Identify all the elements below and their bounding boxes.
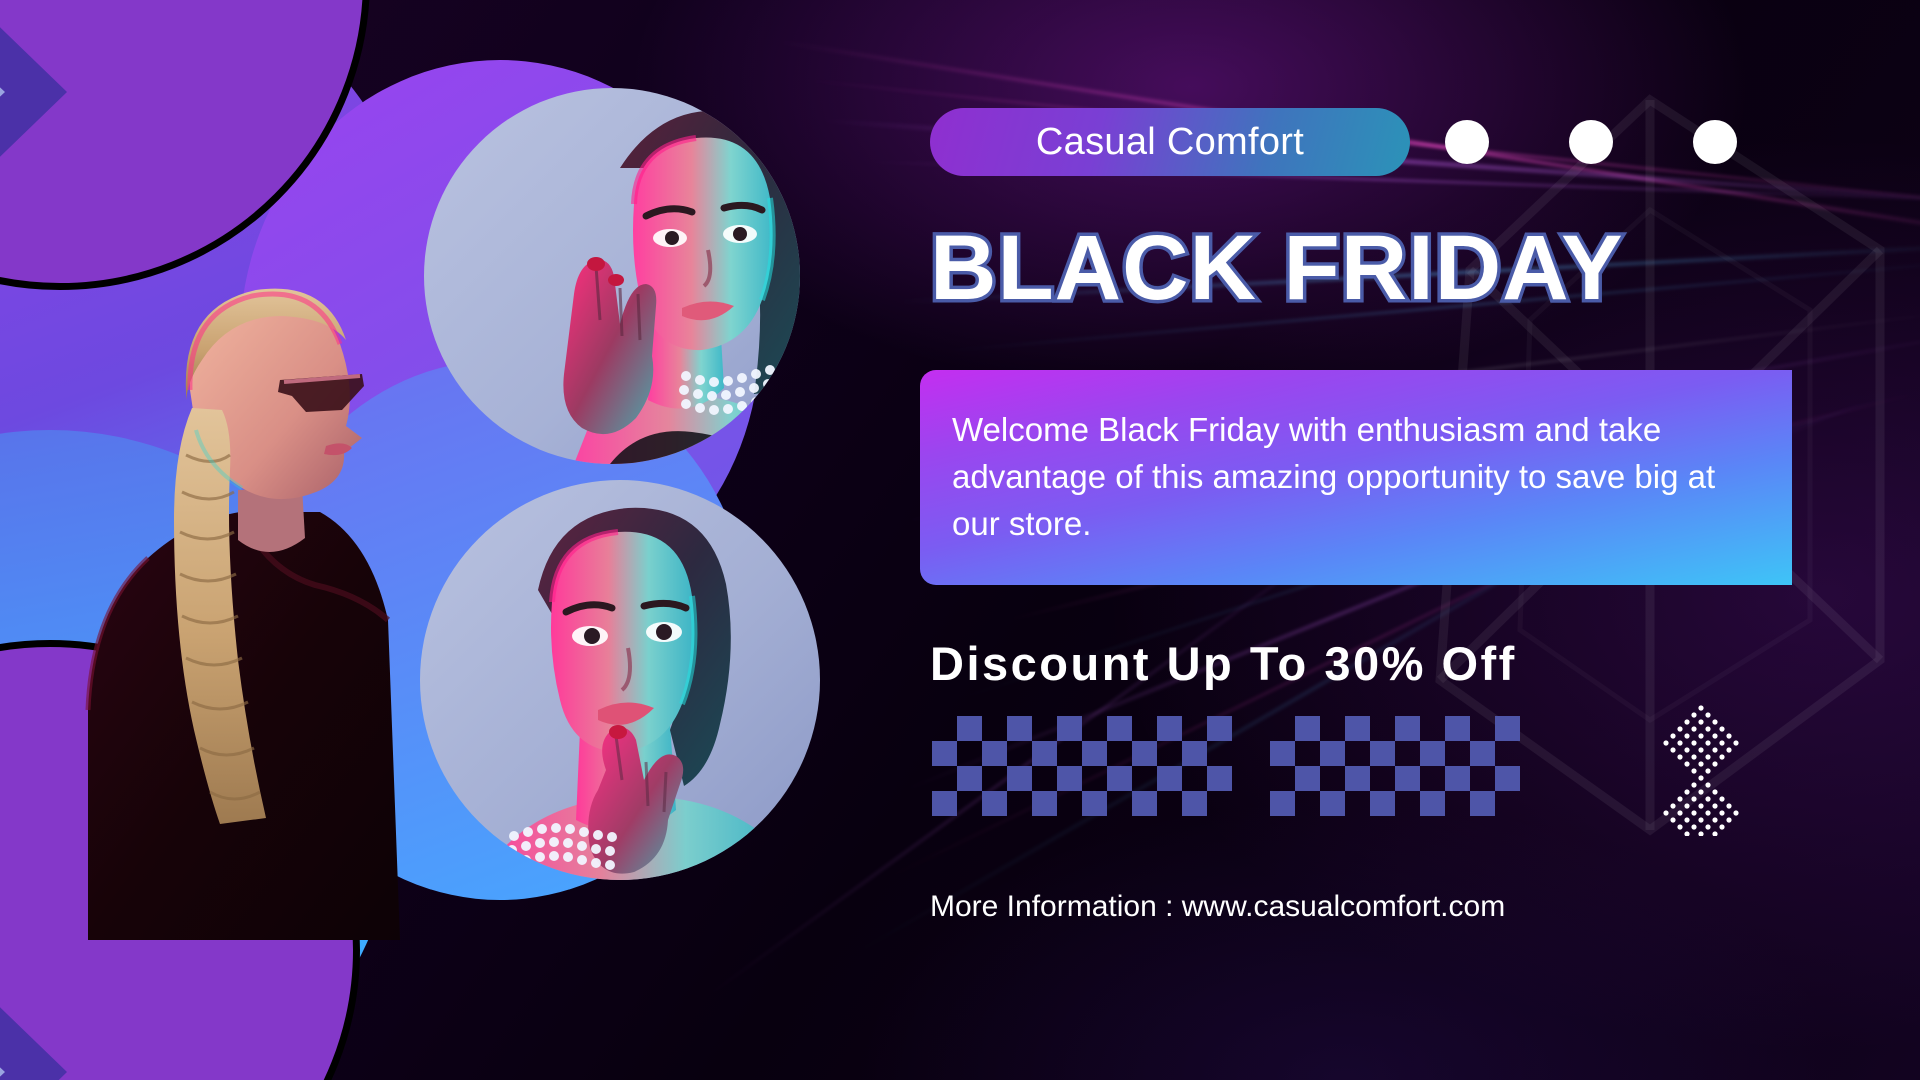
promo-message: Welcome Black Friday with enthusiasm and… <box>920 407 1792 548</box>
white-dot-icon <box>1693 120 1737 164</box>
brand-name: Casual Comfort <box>1036 121 1304 164</box>
model-photo-side-profile <box>70 240 470 940</box>
footer-info[interactable]: More Information : www.casualcomfort.com <box>930 890 1880 924</box>
checkerboard-decoration-group <box>932 716 1520 816</box>
checkerboard-block <box>1270 716 1520 816</box>
white-dot-icon <box>1569 120 1613 164</box>
content-column: Casual Comfort BLACK FRIDAY Welcome Blac… <box>920 0 1920 1080</box>
model-photo-top-circle <box>424 88 800 464</box>
chevron-graphic-icon <box>0 0 157 257</box>
checkerboard-block <box>932 716 1232 816</box>
dotted-bowtie-icon <box>1658 700 1744 836</box>
discount-text: Discount Up To 30% Off <box>930 636 1880 691</box>
white-dot-icon <box>1445 120 1489 164</box>
model-photo-bottom-circle <box>420 480 820 880</box>
dot-decoration-group <box>1445 120 1737 164</box>
page-title: BLACK FRIDAY <box>930 222 1880 314</box>
message-panel: Welcome Black Friday with enthusiasm and… <box>920 370 1792 585</box>
brand-pill[interactable]: Casual Comfort <box>930 108 1410 176</box>
black-friday-banner: Casual Comfort BLACK FRIDAY Welcome Blac… <box>0 0 1920 1080</box>
